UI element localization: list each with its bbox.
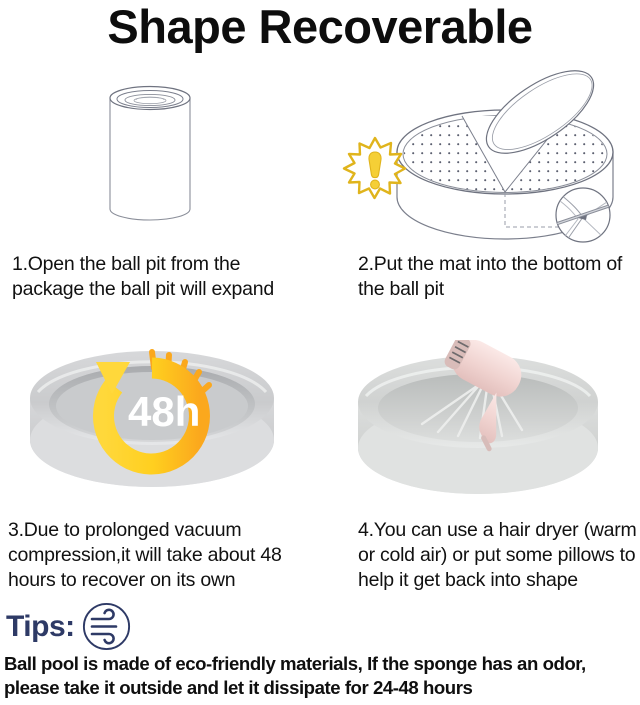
footer-note: Ball pool is made of eco-friendly materi… — [4, 652, 640, 700]
ball-pit-with-mat-icon — [330, 52, 640, 252]
step-2-caption: 2.Put the mat into the bottom of the bal… — [358, 252, 640, 302]
wind-circle-icon — [82, 602, 131, 651]
step-4-caption: 4.You can use a hair dryer (warm or cold… — [358, 518, 640, 593]
rolled-package-cylinder-icon — [10, 62, 320, 244]
page-title: Shape Recoverable — [0, 0, 640, 56]
tips-label: Tips: — [6, 610, 75, 644]
exclamation-starburst-icon — [344, 138, 405, 198]
tips-row: Tips: — [6, 602, 131, 651]
step-3-caption: 3.Due to prolonged vacuum compression,it… — [8, 518, 324, 593]
ball-pit-hair-dryer-icon — [330, 340, 640, 508]
step-1-illustration — [10, 62, 320, 244]
recovery-hours-badge: 48h — [128, 388, 200, 435]
ball-pit-48h-recovery-icon: 48h — [8, 340, 320, 508]
step-1-caption: 1.Open the ball pit from the package the… — [12, 252, 312, 302]
step-4-illustration — [330, 340, 640, 508]
step-2-illustration — [330, 52, 640, 252]
step-3-illustration: 48h — [8, 340, 320, 508]
